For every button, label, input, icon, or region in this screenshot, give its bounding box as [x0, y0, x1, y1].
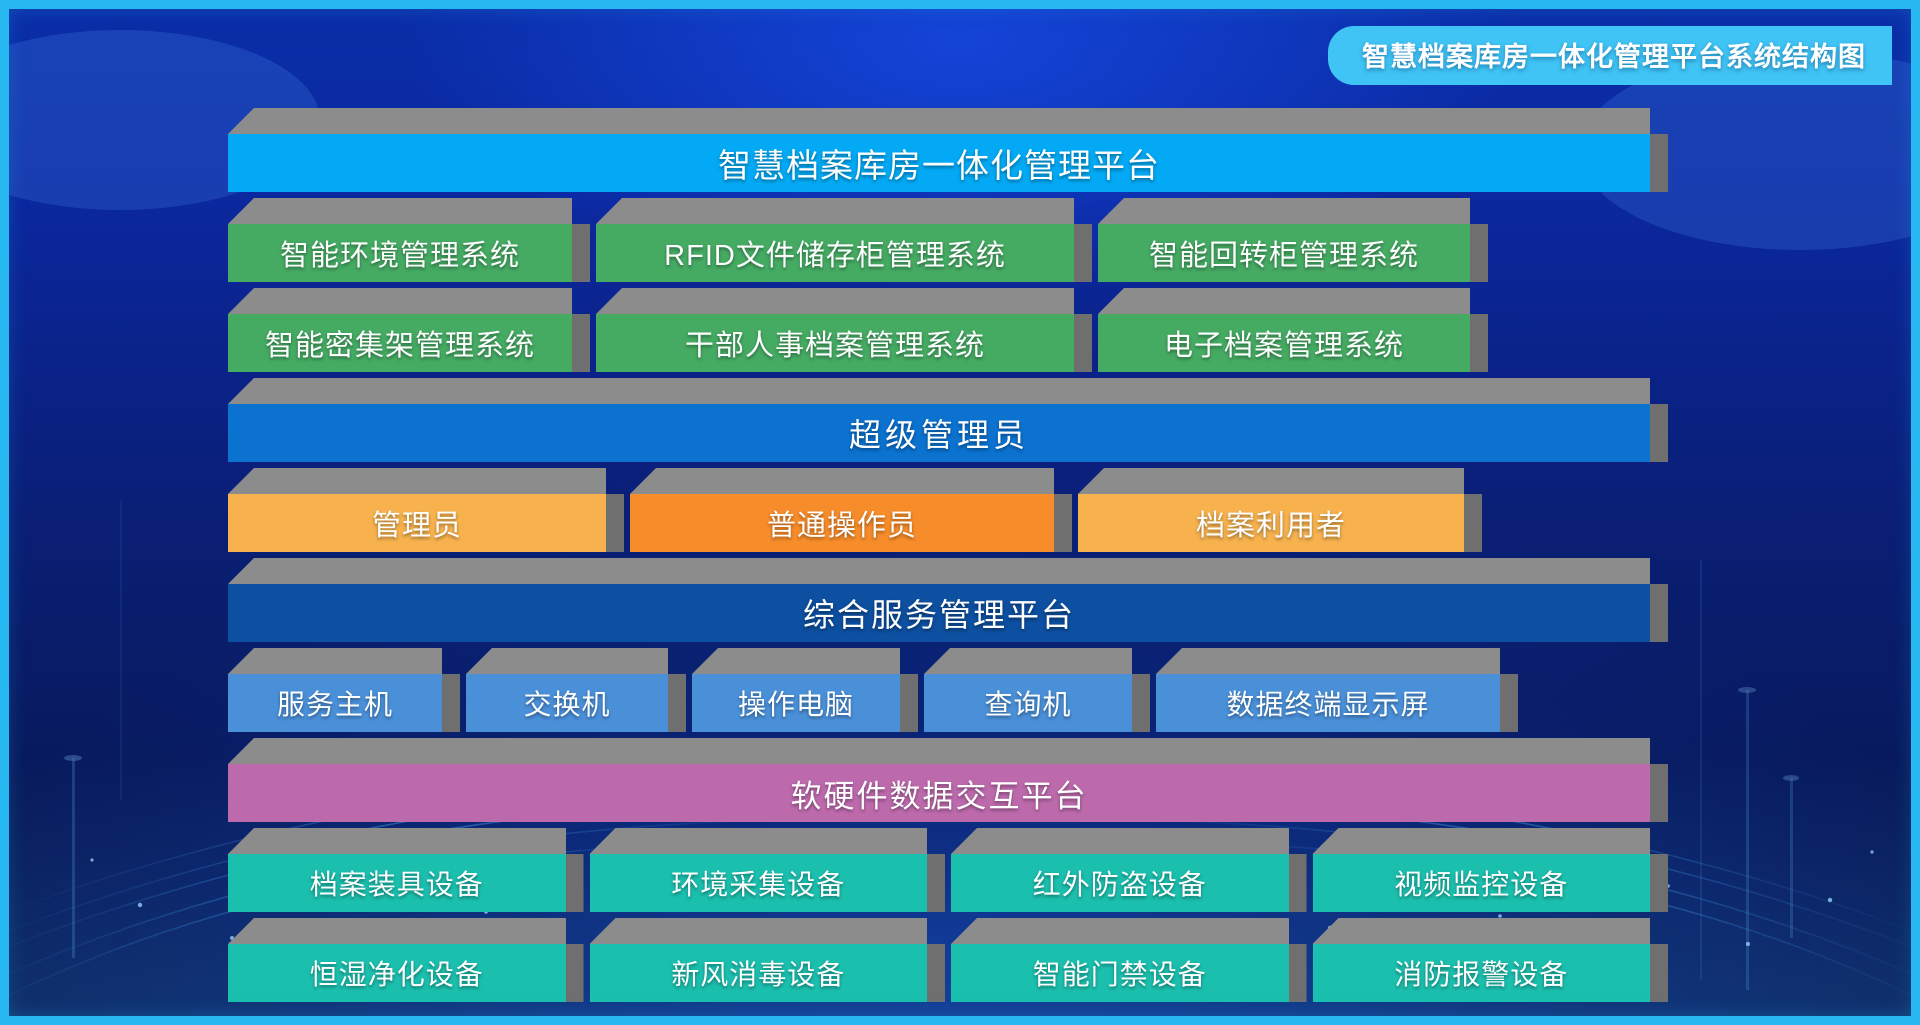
block-rotary-cabinet-management-system[interactable]: 智能回转柜管理系统	[1098, 224, 1470, 282]
system-structure-diagram: 智慧档案库房一体化管理平台 智能环境管理系统 RFID文件储存柜管理系统 智能回…	[228, 108, 1668, 1008]
interaction-platform-row: 软硬件数据交互平台	[228, 738, 1668, 822]
systems-row-2: 智能密集架管理系统 干部人事档案管理系统 电子档案管理系统	[228, 288, 1668, 372]
block-device-query-terminal[interactable]: 查询机	[924, 674, 1132, 732]
block-label: 红外防盗设备	[1033, 863, 1207, 903]
block-electronic-archive-management-system[interactable]: 电子档案管理系统	[1098, 314, 1470, 372]
block-label: 超级管理员	[849, 410, 1029, 456]
block-label: 服务主机	[277, 683, 393, 723]
block-platform[interactable]: 智慧档案库房一体化管理平台	[228, 134, 1650, 192]
block-label: 档案装具设备	[310, 863, 484, 903]
block-service-platform[interactable]: 综合服务管理平台	[228, 584, 1650, 642]
block-label: 干部人事档案管理系统	[685, 322, 985, 364]
equipment-row-2: 恒湿净化设备 新风消毒设备 智能门禁设备 消防报警设备	[228, 918, 1668, 1002]
block-equipment-environment-sensors[interactable]: 环境采集设备	[590, 854, 928, 912]
block-label: 智能门禁设备	[1033, 953, 1207, 993]
block-role-operator[interactable]: 普通操作员	[630, 494, 1054, 552]
block-equipment-humidity-purification[interactable]: 恒湿净化设备	[228, 944, 566, 1002]
block-equipment-fire-alarm[interactable]: 消防报警设备	[1313, 944, 1651, 1002]
block-device-data-display-screen[interactable]: 数据终端显示屏	[1156, 674, 1500, 732]
devices-row: 服务主机 交换机 操作电脑 查询机 数据终端显示屏	[228, 648, 1668, 732]
roles-row: 管理员 普通操作员 档案利用者	[228, 468, 1668, 552]
block-personnel-archive-management-system[interactable]: 干部人事档案管理系统	[596, 314, 1074, 372]
systems-row-1: 智能环境管理系统 RFID文件储存柜管理系统 智能回转柜管理系统	[228, 198, 1668, 282]
block-equipment-fresh-air-disinfection[interactable]: 新风消毒设备	[590, 944, 928, 1002]
block-label: 消防报警设备	[1394, 953, 1568, 993]
page-title: 智慧档案库房一体化管理平台系统结构图	[1328, 26, 1892, 85]
block-super-admin[interactable]: 超级管理员	[228, 404, 1650, 462]
block-equipment-infrared-antitheft[interactable]: 红外防盗设备	[951, 854, 1289, 912]
block-label: 智能回转柜管理系统	[1149, 232, 1419, 274]
block-label: 智能环境管理系统	[280, 232, 520, 274]
platform-row: 智慧档案库房一体化管理平台	[228, 108, 1668, 192]
block-label: 智慧档案库房一体化管理平台	[718, 139, 1160, 187]
block-role-administrator[interactable]: 管理员	[228, 494, 606, 552]
block-label: 电子档案管理系统	[1164, 322, 1404, 364]
block-equipment-access-control[interactable]: 智能门禁设备	[951, 944, 1289, 1002]
block-label: RFID文件储存柜管理系统	[664, 232, 1006, 274]
block-device-switch[interactable]: 交换机	[466, 674, 668, 732]
diagram-canvas: 智慧档案库房一体化管理平台系统结构图 智慧档案库房一体化管理平台 智能环境管理系…	[0, 0, 1920, 1025]
block-environment-management-system[interactable]: 智能环境管理系统	[228, 224, 572, 282]
block-label: 交换机	[523, 683, 610, 723]
block-label: 智能密集架管理系统	[265, 322, 535, 364]
block-label: 管理员	[372, 502, 462, 544]
block-label: 数据终端显示屏	[1226, 683, 1429, 723]
block-label: 操作电脑	[738, 683, 854, 723]
block-label: 恒湿净化设备	[310, 953, 484, 993]
equipment-row-1: 档案装具设备 环境采集设备 红外防盗设备 视频监控设备	[228, 828, 1668, 912]
block-equipment-video-surveillance[interactable]: 视频监控设备	[1313, 854, 1651, 912]
block-label: 视频监控设备	[1394, 863, 1568, 903]
block-label: 综合服务管理平台	[803, 590, 1075, 636]
block-label: 查询机	[984, 683, 1071, 723]
block-equipment-archive-fixtures[interactable]: 档案装具设备	[228, 854, 566, 912]
block-label: 普通操作员	[767, 502, 917, 544]
block-device-operator-computer[interactable]: 操作电脑	[692, 674, 900, 732]
block-label: 档案利用者	[1196, 502, 1346, 544]
block-label: 环境采集设备	[671, 863, 845, 903]
super-admin-row: 超级管理员	[228, 378, 1668, 462]
block-label: 新风消毒设备	[671, 953, 845, 993]
block-role-archive-user[interactable]: 档案利用者	[1078, 494, 1464, 552]
service-platform-row: 综合服务管理平台	[228, 558, 1668, 642]
block-label: 软硬件数据交互平台	[791, 771, 1088, 816]
block-device-server-host[interactable]: 服务主机	[228, 674, 442, 732]
block-rfid-cabinet-management-system[interactable]: RFID文件储存柜管理系统	[596, 224, 1074, 282]
block-software-hardware-interaction-platform[interactable]: 软硬件数据交互平台	[228, 764, 1650, 822]
block-compact-shelving-management-system[interactable]: 智能密集架管理系统	[228, 314, 572, 372]
